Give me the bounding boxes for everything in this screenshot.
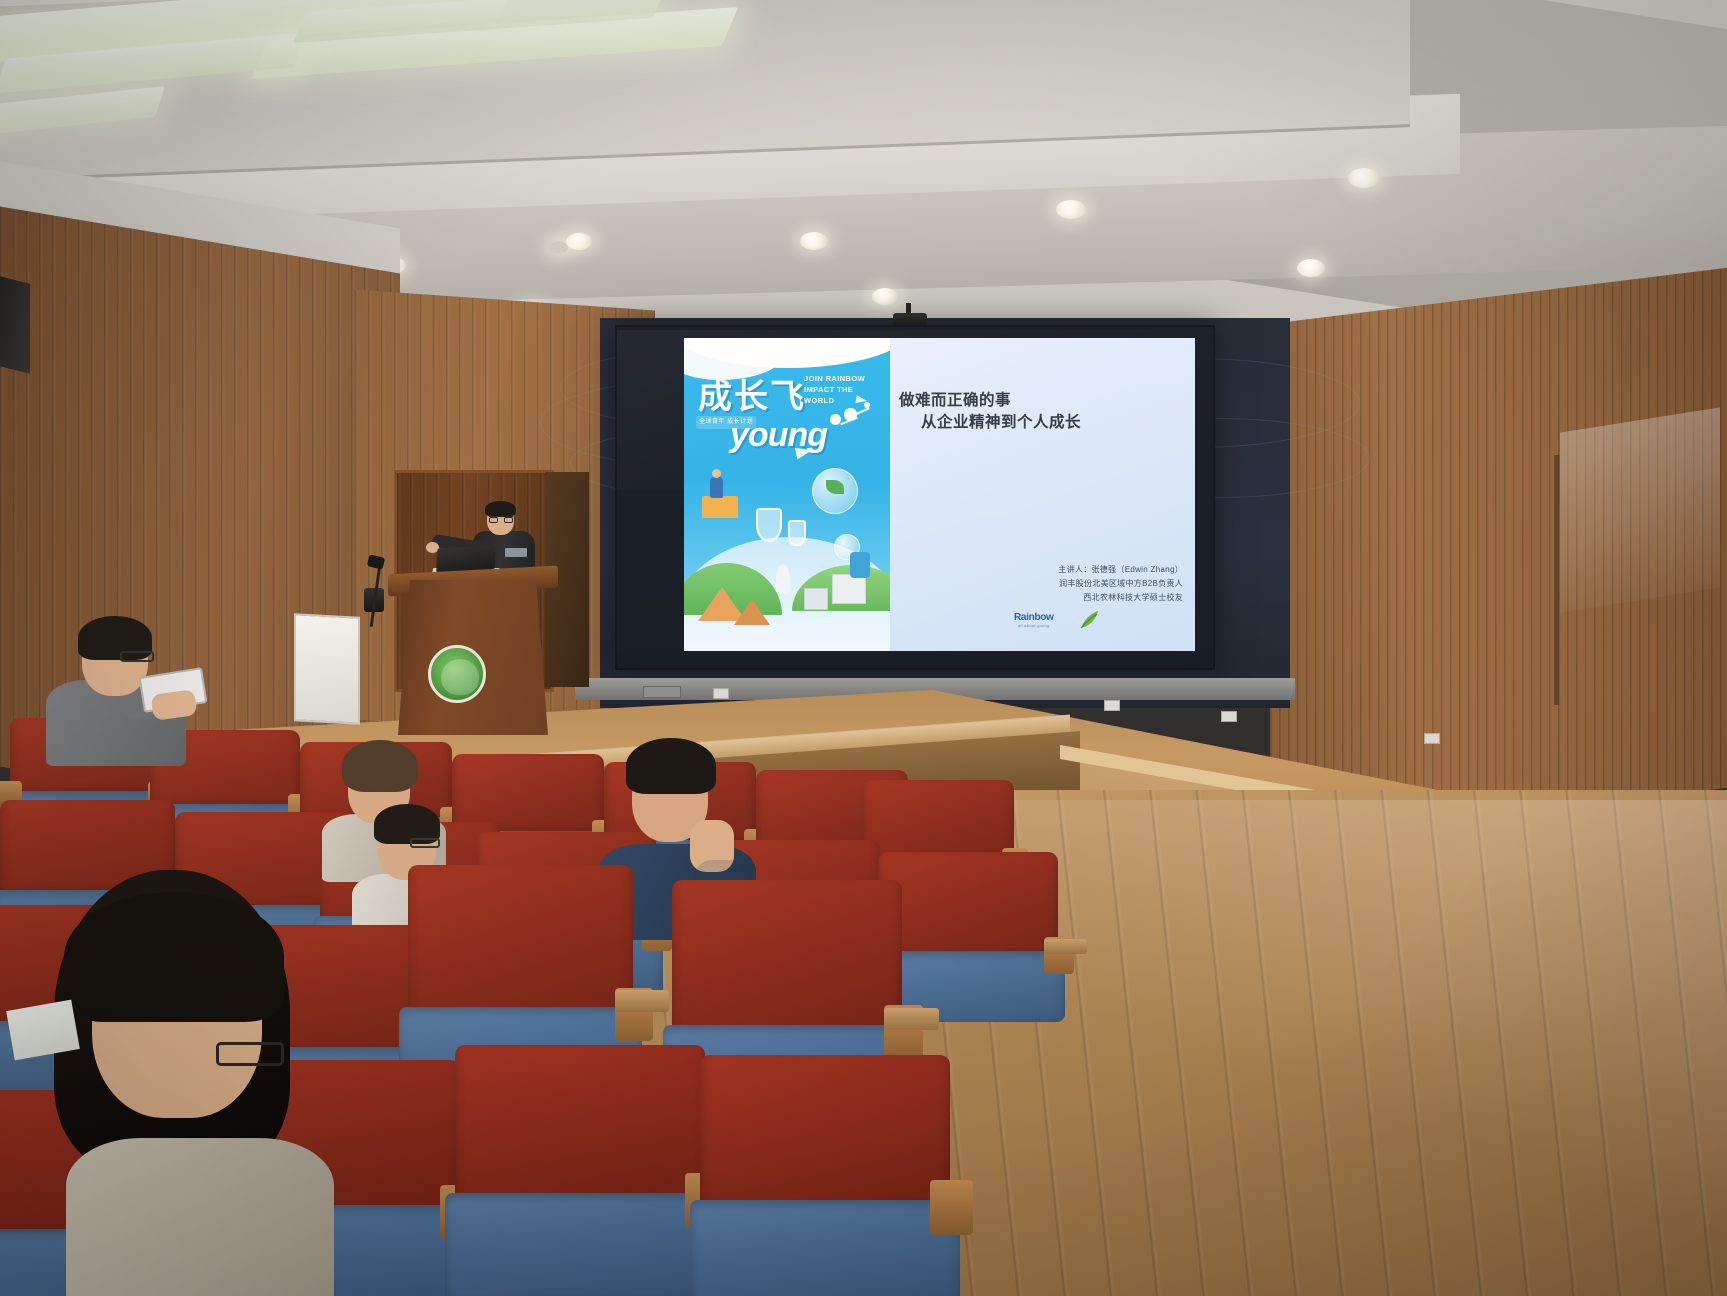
headline-line-1: 做难而正确的事 — [899, 390, 1189, 412]
robot-figure — [850, 552, 870, 578]
headline-line-2: 从企业精神到个人成长 — [921, 412, 1189, 434]
audience-glasses-icon — [120, 651, 154, 662]
slide-headline: 做难而正确的事 从企业精神到个人成长 — [899, 390, 1189, 434]
box-shape — [804, 588, 828, 610]
audience-glasses-icon — [410, 838, 440, 848]
right-wall-window-light — [1560, 407, 1720, 612]
speaker-line-3: 西北农林科技大学硕士校友 — [899, 591, 1183, 605]
speaker-glasses-icon — [489, 516, 513, 522]
seat[interactable] — [455, 1045, 705, 1296]
slide-speaker-credits: 主讲人：张德强（Edwin Zhang） 润丰股份北美区域中方B2B负责人 西北… — [899, 563, 1189, 604]
whiteboard — [294, 613, 360, 724]
wall-speaker-box — [0, 276, 30, 373]
audience-hair-front — [64, 892, 284, 1022]
seated-figure — [710, 476, 723, 498]
poster-title-cn: 成长飞 — [698, 380, 806, 414]
cloud-shape — [684, 346, 784, 380]
wall-outlet — [1221, 711, 1237, 722]
university-crest-icon — [428, 645, 486, 703]
audience-torso — [66, 1138, 334, 1296]
audience-glasses-icon — [216, 1042, 284, 1066]
green-leaf-mark-icon — [1078, 609, 1100, 631]
ceiling-downlight — [1297, 259, 1325, 277]
wall-outlet — [1104, 700, 1120, 711]
ceiling-downlight — [566, 233, 592, 250]
audience-hair — [342, 740, 418, 792]
right-wall-door-seam — [1554, 455, 1559, 706]
presentation-slide[interactable]: 成长飞 JOIN RAINBOW IMPACT THE WORLD 全球青年 成… — [684, 338, 1195, 651]
ceiling-downlight — [872, 288, 898, 305]
audience-member — [30, 870, 330, 1296]
seat[interactable] — [878, 852, 1058, 1022]
molecule-icon — [824, 400, 880, 434]
ceiling-downlight — [800, 232, 828, 250]
ceiling-downlight — [1348, 168, 1380, 188]
rainbow-logo-tagline: all about young — [1018, 623, 1050, 628]
seated-figure-head — [712, 469, 721, 478]
ceiling-downlight — [1056, 200, 1086, 219]
book-shape — [702, 496, 738, 518]
rainbow-logo: Rainbow all about young — [1014, 612, 1054, 628]
rocket-shape — [776, 564, 790, 594]
ceiling-smoke-detector — [548, 241, 568, 254]
wall-outlet — [1424, 733, 1440, 744]
speaker-line-2: 润丰股份北美区域中方B2B负责人 — [899, 577, 1183, 591]
speaker-hair — [485, 501, 516, 517]
pyramid-shape — [734, 599, 770, 625]
paper-plane-icon — [855, 395, 867, 405]
flask-shape — [756, 508, 782, 542]
seat[interactable] — [700, 1055, 950, 1296]
wall-outlet — [713, 688, 729, 699]
speaker-line-1: 主讲人：张德强（Edwin Zhang） — [899, 563, 1183, 577]
speaker-badge — [505, 548, 527, 557]
flask-shape — [788, 520, 806, 546]
poster-title-en: young — [730, 416, 827, 455]
floor-vent-label — [643, 686, 681, 698]
slide-logo-row: Rainbow all about young — [1014, 607, 1189, 633]
slide-poster-art: 成长飞 JOIN RAINBOW IMPACT THE WORLD 全球青年 成… — [684, 338, 890, 651]
rainbow-logo-text: Rainbow — [1014, 612, 1054, 623]
box-shape — [832, 574, 866, 604]
audience-hair — [626, 738, 716, 794]
leaf-icon — [826, 480, 844, 494]
auditorium-scene: 成长飞 JOIN RAINBOW IMPACT THE WORLD 全球青年 成… — [0, 0, 1727, 1296]
paper-plane-icon — [795, 444, 813, 459]
